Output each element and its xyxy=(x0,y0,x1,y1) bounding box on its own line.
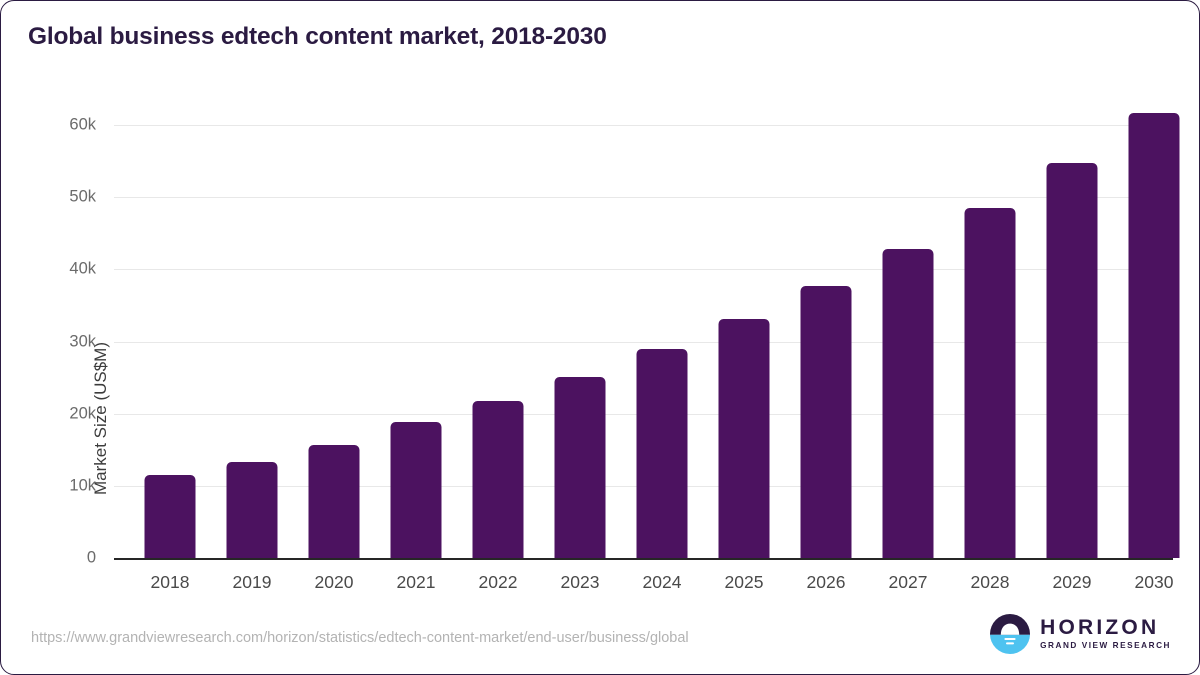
x-axis-line xyxy=(114,558,1173,560)
x-tick-label: 2020 xyxy=(315,572,354,593)
bar-series: 2018201920202021202220232024202520262027… xyxy=(114,125,1173,558)
y-tick-label: 30k xyxy=(26,332,96,351)
bar[interactable] xyxy=(145,475,196,558)
bar[interactable] xyxy=(719,319,770,558)
logo-text: HORIZON GRAND VIEW RESEARCH xyxy=(1040,617,1171,650)
x-tick-label: 2029 xyxy=(1053,572,1092,593)
x-tick-label: 2022 xyxy=(479,572,518,593)
bar-group: 2020 xyxy=(293,125,375,558)
y-tick-label: 0 xyxy=(26,549,96,568)
bar[interactable] xyxy=(309,445,360,558)
bar-group: 2025 xyxy=(703,125,785,558)
x-tick-label: 2021 xyxy=(397,572,436,593)
bar[interactable] xyxy=(555,377,606,558)
bar-group: 2023 xyxy=(539,125,621,558)
plot-area: Market Size (US$M) 010k20k30k40k50k60k 2… xyxy=(114,125,1173,558)
bar-group: 2022 xyxy=(457,125,539,558)
bar-group: 2029 xyxy=(1031,125,1113,558)
x-tick-label: 2025 xyxy=(725,572,764,593)
bar-group: 2027 xyxy=(867,125,949,558)
bar-group: 2030 xyxy=(1113,125,1195,558)
bar[interactable] xyxy=(1129,113,1180,558)
bar-group: 2024 xyxy=(621,125,703,558)
y-tick-label: 50k xyxy=(26,188,96,207)
x-tick-label: 2024 xyxy=(643,572,682,593)
bar[interactable] xyxy=(391,422,442,558)
page-title: Global business edtech content market, 2… xyxy=(28,23,607,51)
x-tick-label: 2023 xyxy=(561,572,600,593)
bar-group: 2018 xyxy=(129,125,211,558)
bar-group: 2028 xyxy=(949,125,1031,558)
bar[interactable] xyxy=(965,208,1016,558)
y-tick-label: 40k xyxy=(26,260,96,279)
source-url[interactable]: https://www.grandviewresearch.com/horizo… xyxy=(31,630,689,646)
bar-group: 2019 xyxy=(211,125,293,558)
bar[interactable] xyxy=(227,462,278,558)
x-tick-label: 2030 xyxy=(1135,572,1174,593)
bar[interactable] xyxy=(801,286,852,558)
bar-group: 2026 xyxy=(785,125,867,558)
bar[interactable] xyxy=(1047,163,1098,558)
x-tick-label: 2026 xyxy=(807,572,846,593)
y-tick-label: 20k xyxy=(26,404,96,423)
chart-card: Global business edtech content market, 2… xyxy=(0,0,1200,675)
bar[interactable] xyxy=(473,401,524,558)
bar[interactable] xyxy=(883,249,934,558)
bar-group: 2021 xyxy=(375,125,457,558)
bar[interactable] xyxy=(637,349,688,558)
x-tick-label: 2028 xyxy=(971,572,1010,593)
y-tick-label: 60k xyxy=(26,116,96,135)
x-tick-label: 2019 xyxy=(233,572,272,593)
logo-name: HORIZON xyxy=(1040,617,1171,638)
logo: HORIZON GRAND VIEW RESEARCH xyxy=(990,614,1171,654)
x-tick-label: 2018 xyxy=(151,572,190,593)
y-tick-label: 10k xyxy=(26,476,96,495)
x-tick-label: 2027 xyxy=(889,572,928,593)
logo-subtitle: GRAND VIEW RESEARCH xyxy=(1040,642,1171,650)
horizon-logo-icon xyxy=(990,614,1030,654)
